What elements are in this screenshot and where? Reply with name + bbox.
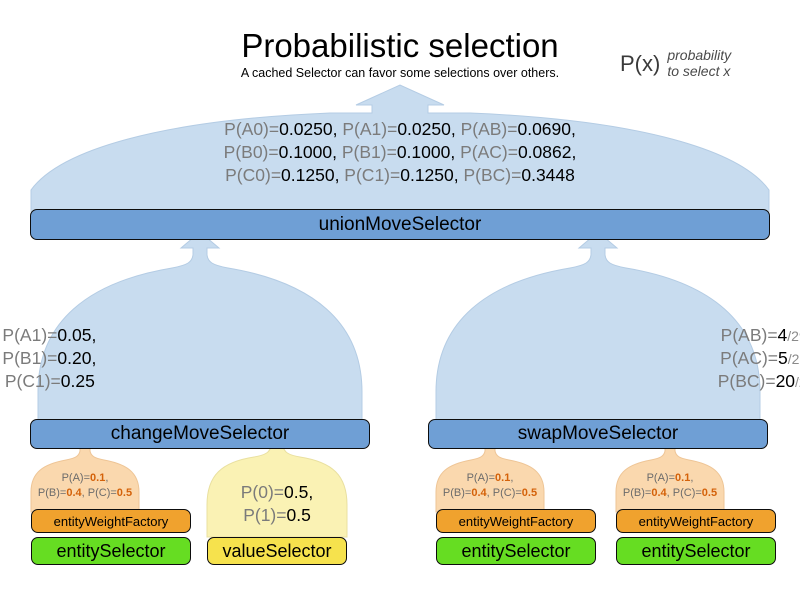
prob-key: P(AC)=: [720, 348, 778, 368]
change-probabilities: P(A0)=0.05, P(A1)=0.05,P(B0)=0.20, P(B1)…: [0, 324, 400, 392]
prob-value: 0.5: [286, 505, 310, 525]
prob-value: 0.3448: [521, 165, 575, 185]
entity-weight-factory-bar-2[interactable]: entityWeightFactory: [436, 509, 596, 533]
prob-fraction: /29: [795, 374, 800, 390]
prob-key: P(BC)=: [718, 371, 776, 391]
prob-value: 0.1000,: [397, 142, 455, 162]
weight-probabilities-3: P(A)=0.1,P(B)=0.4, P(C)=0.5: [270, 471, 800, 500]
union-probabilities: P(A0)=0.0250, P(A1)=0.0250, P(AB)=0.0690…: [0, 118, 800, 186]
prob-key: P(B)=: [623, 487, 651, 499]
prob-sep: ,: [690, 472, 693, 484]
prob-key: P(1)=: [243, 505, 286, 525]
prob-key: P(BC)=: [459, 165, 522, 185]
prob-value: 0.0690,: [517, 119, 575, 139]
legend: P(x) probability to select x: [620, 48, 731, 80]
prob-key: P(A)=: [647, 472, 675, 484]
prob-key: P(AB)=: [456, 119, 518, 139]
prob-fraction: /29: [788, 351, 800, 367]
prob-key: P(AC)=: [455, 142, 518, 162]
prob-key: P(AB)=: [721, 325, 778, 345]
prob-value: 0.1250,: [281, 165, 339, 185]
prob-value: 0.4: [651, 487, 666, 499]
swap-probabilities: P(AB)=4/29=0.1379,P(AC)=5/29=0.1724,P(BC…: [398, 324, 800, 392]
prob-line: P(B0)=0.1000, P(B1)=0.1000, P(AC)=0.0862…: [0, 141, 800, 164]
prob-value: 0.5: [702, 487, 717, 499]
prob-line: P(AC)=5/29=0.1724,: [398, 347, 800, 370]
prob-line: P(C0)=0.1250, P(C1)=0.1250, P(BC)=0.3448: [0, 164, 800, 187]
prob-line: P(BC)=20/29=0.6897: [398, 370, 800, 393]
value-selector-bar[interactable]: valueSelector: [207, 537, 347, 565]
legend-line-1: probability: [667, 47, 731, 63]
prob-line: P(B0)=0.20, P(B1)=0.20,: [0, 347, 400, 370]
prob-line: P(B)=0.4, P(C)=0.5: [270, 486, 800, 501]
prob-value: 0.0862,: [518, 142, 576, 162]
prob-key: P(C0)=: [225, 165, 281, 185]
prob-line: P(A0)=0.0250, P(A1)=0.0250, P(AB)=0.0690…: [0, 118, 800, 141]
prob-value: 0.20,: [57, 348, 96, 368]
prob-value: 0.05,: [57, 325, 96, 345]
prob-key: P(B1)=: [337, 142, 397, 162]
entity-selector-bar-2[interactable]: entitySelector: [436, 537, 596, 565]
prob-key: P(C1)=: [0, 371, 61, 391]
prob-key: P(A1)=: [337, 119, 397, 139]
swap-move-selector-bar[interactable]: swapMoveSelector: [428, 419, 768, 449]
entity-selector-bar-1[interactable]: entitySelector: [31, 537, 191, 565]
prob-value: 5: [778, 348, 788, 368]
entity-selector-bar-3[interactable]: entitySelector: [616, 537, 776, 565]
prob-value: 0.0250,: [397, 119, 455, 139]
prob-value: 4: [778, 325, 788, 345]
legend-line-2: to select x: [667, 63, 730, 79]
prob-key: P(B0)=: [224, 142, 279, 162]
prob-value: 20: [776, 371, 795, 391]
diagram-canvas: Probabilistic selection A cached Selecto…: [0, 0, 800, 600]
prob-value: 0.0250,: [279, 119, 337, 139]
prob-value: 0.1000,: [279, 142, 337, 162]
prob-key: P(C1)=: [339, 165, 400, 185]
prob-line: P(A0)=0.05, P(A1)=0.05,: [0, 324, 400, 347]
prob-line: P(A)=0.1,: [270, 471, 800, 486]
prob-value: 0.1250,: [400, 165, 458, 185]
prob-key: P(A1)=: [0, 325, 57, 345]
change-move-selector-bar[interactable]: changeMoveSelector: [30, 419, 370, 449]
legend-symbol: P(x): [620, 51, 660, 77]
prob-value: 0.1: [675, 472, 690, 484]
prob-line: P(AB)=4/29=0.1379,: [398, 324, 800, 347]
prob-key: P(C)=: [670, 487, 702, 499]
prob-value: 0.25: [61, 371, 95, 391]
prob-key: P(B1)=: [0, 348, 57, 368]
prob-fraction: /29: [787, 328, 800, 344]
prob-line: P(C0)=0.25, P(C1)=0.25: [0, 370, 400, 393]
prob-key: P(A0)=: [224, 119, 279, 139]
legend-description: probability to select x: [667, 48, 731, 80]
entity-weight-factory-bar-3[interactable]: entityWeightFactory: [616, 509, 776, 533]
union-move-selector-bar[interactable]: unionMoveSelector: [30, 209, 770, 240]
